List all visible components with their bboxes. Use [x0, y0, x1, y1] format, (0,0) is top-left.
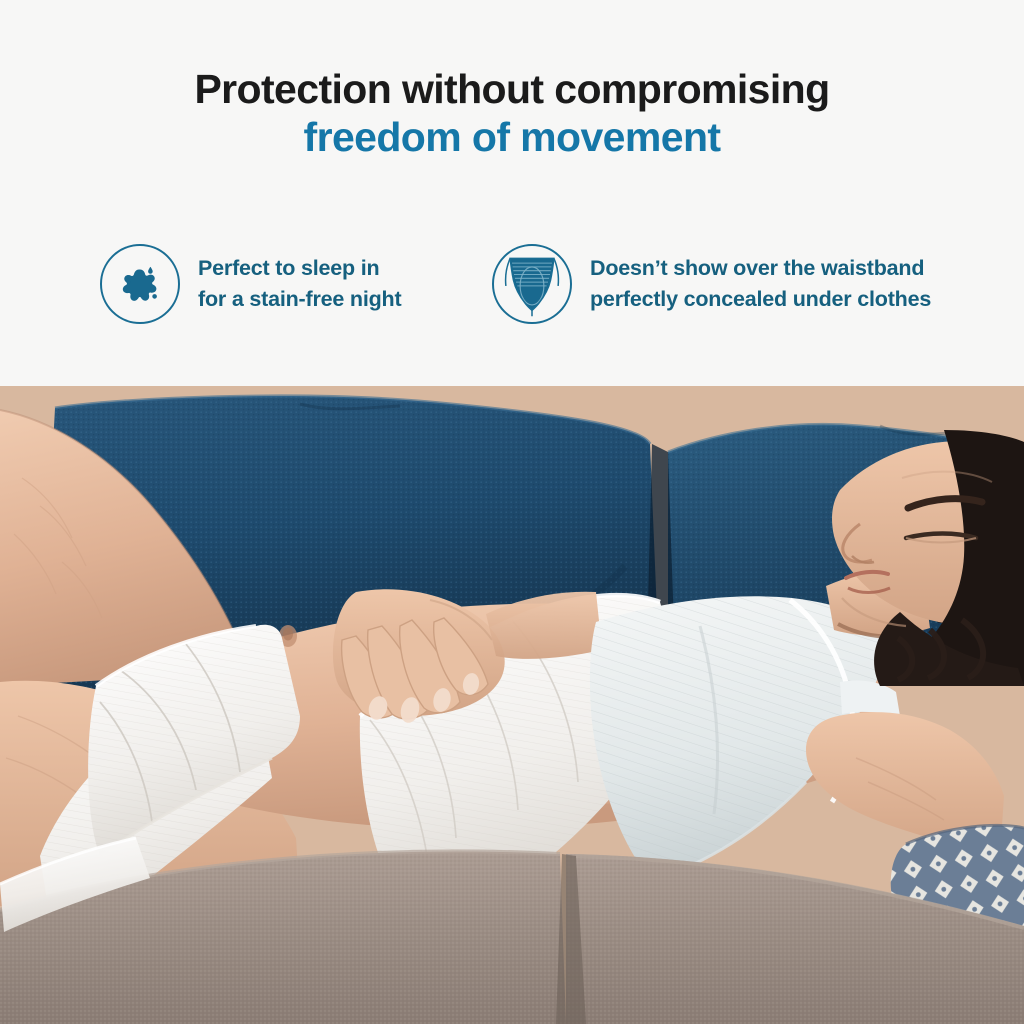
product-feature-banner: Protection without compromising freedom …: [0, 0, 1024, 1024]
feature-item-concealed: Doesn’t show over the waistband perfectl…: [492, 244, 931, 324]
underwear-brief-icon: [492, 244, 572, 324]
headline-line-accent: freedom of movement: [0, 114, 1024, 162]
feature-text-stain-free: Perfect to sleep in for a stain-free nig…: [198, 253, 401, 314]
feature-text-line1: Doesn’t show over the waistband: [590, 253, 931, 284]
feature-text-concealed: Doesn’t show over the waistband perfectl…: [590, 253, 931, 314]
header-section: Protection without compromising freedom …: [0, 0, 1024, 386]
feature-text-line1: Perfect to sleep in: [198, 253, 401, 284]
feature-list: Perfect to sleep in for a stain-free nig…: [0, 240, 1024, 350]
feature-text-line2: for a stain-free night: [198, 284, 401, 315]
splash-stain-icon: [100, 244, 180, 324]
lifestyle-photo: [0, 386, 1024, 1024]
feature-text-line2: perfectly concealed under clothes: [590, 284, 931, 315]
headline-line-primary: Protection without compromising: [0, 66, 1024, 114]
headline: Protection without compromising freedom …: [0, 66, 1024, 162]
feature-item-stain-free: Perfect to sleep in for a stain-free nig…: [100, 244, 401, 324]
